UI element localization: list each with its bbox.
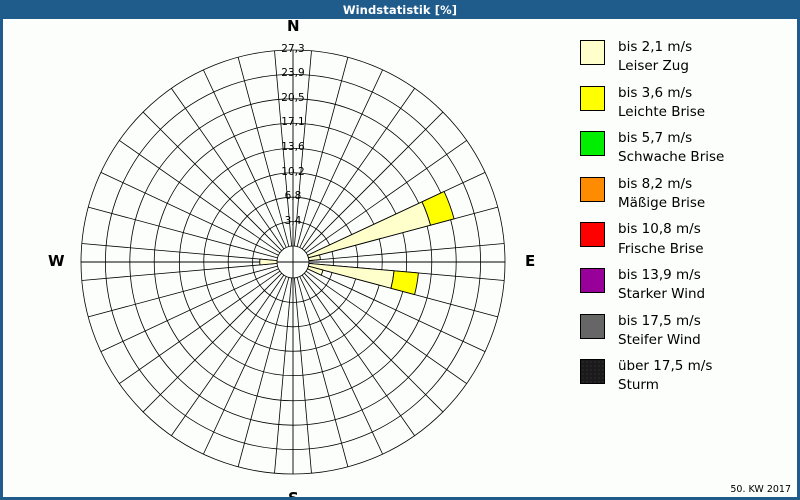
chart-canvas: N E S W 3,46,810,213,617,120,523,927,3 b… xyxy=(3,19,797,497)
legend-speed: bis 17,5 m/s xyxy=(618,313,701,329)
cardinal-label-east: E xyxy=(525,252,535,270)
legend-row: bis 8,2 m/sMäßige Brise xyxy=(580,175,790,214)
legend-label: bis 2,1 m/sLeiser Zug xyxy=(618,38,692,77)
legend-speed: bis 13,9 m/s xyxy=(618,267,701,283)
wind-rose-plot xyxy=(3,19,563,497)
legend-beaufort-name: Schwache Brise xyxy=(618,148,724,167)
grid-spoke xyxy=(143,273,282,412)
grid-spoke xyxy=(300,70,383,248)
cardinal-label-west: W xyxy=(48,252,65,270)
legend-speed: bis 10,8 m/s xyxy=(618,221,701,237)
legend-speed: bis 5,7 m/s xyxy=(618,130,692,146)
legend-row: bis 3,6 m/sLeichte Brise xyxy=(580,84,790,123)
legend-beaufort-name: Frische Brise xyxy=(618,240,704,259)
grid-spoke xyxy=(203,70,286,248)
legend-color-swatch xyxy=(580,177,605,202)
cardinal-label-south: S xyxy=(288,489,299,497)
legend-speed: über 17,5 m/s xyxy=(618,358,712,374)
wind-rose-wedge xyxy=(308,263,394,288)
legend-row: bis 10,8 m/sFrische Brise xyxy=(580,220,790,259)
legend-label: bis 10,8 m/sFrische Brise xyxy=(618,220,704,259)
week-stamp: 50. KW 2017 xyxy=(730,484,791,495)
grid-spoke xyxy=(304,273,443,412)
legend-color-swatch xyxy=(580,131,605,156)
legend-row: bis 17,5 m/sSteifer Wind xyxy=(580,312,790,351)
legend-beaufort-name: Sturm xyxy=(618,376,712,395)
wind-rose-wedge xyxy=(260,259,277,265)
legend-color-swatch xyxy=(580,359,605,384)
radial-tick-label: 23,9 xyxy=(281,67,304,79)
grid-spoke xyxy=(300,277,383,455)
legend-label: über 17,5 m/sSturm xyxy=(618,357,712,396)
cardinal-label-north: N xyxy=(287,19,300,35)
wind-rose-wedge xyxy=(308,202,431,258)
legend-color-swatch xyxy=(580,86,605,111)
legend-row: bis 2,1 m/sLeiser Zug xyxy=(580,38,790,77)
grid-spoke xyxy=(101,172,279,255)
legend-label: bis 5,7 m/sSchwache Brise xyxy=(618,129,724,168)
legend-speed: bis 3,6 m/s xyxy=(618,85,692,101)
legend-color-swatch xyxy=(580,222,605,247)
legend-label: bis 13,9 m/sStarker Wind xyxy=(618,266,705,305)
legend-label: bis 3,6 m/sLeichte Brise xyxy=(618,84,705,123)
wind-speed-legend: bis 2,1 m/sLeiser Zugbis 3,6 m/sLeichte … xyxy=(580,38,790,403)
radial-tick-label: 20,5 xyxy=(281,92,304,104)
legend-label: bis 8,2 m/sMäßige Brise xyxy=(618,175,705,214)
legend-color-swatch xyxy=(580,40,605,65)
legend-beaufort-name: Leiser Zug xyxy=(618,57,692,76)
legend-label: bis 17,5 m/sSteifer Wind xyxy=(618,312,701,351)
grid-spoke xyxy=(203,277,286,455)
legend-speed: bis 2,1 m/s xyxy=(618,39,692,55)
window-title: Windstatistik [%] xyxy=(343,3,457,17)
legend-row: bis 5,7 m/sSchwache Brise xyxy=(580,129,790,168)
windstatistik-window: Windstatistik [%] N E S W 3,46,810,213,6… xyxy=(0,0,800,500)
radial-tick-label: 3,4 xyxy=(285,215,302,227)
legend-beaufort-name: Leichte Brise xyxy=(618,103,705,122)
grid-spoke xyxy=(143,112,282,251)
window-titlebar: Windstatistik [%] xyxy=(0,0,800,19)
legend-color-swatch xyxy=(580,268,605,293)
radial-tick-label: 6,8 xyxy=(285,190,302,202)
radial-tick-label: 13,6 xyxy=(281,141,304,153)
legend-beaufort-name: Mäßige Brise xyxy=(618,194,705,213)
radial-tick-label: 27,3 xyxy=(281,43,304,55)
legend-color-swatch xyxy=(580,314,605,339)
legend-speed: bis 8,2 m/s xyxy=(618,176,692,192)
wind-rose-wedge xyxy=(391,271,418,295)
radial-tick-label: 17,1 xyxy=(281,116,304,128)
radial-tick-label: 10,2 xyxy=(281,166,304,178)
legend-beaufort-name: Steifer Wind xyxy=(618,331,701,350)
grid-spoke xyxy=(101,269,279,352)
legend-row: über 17,5 m/sSturm xyxy=(580,357,790,396)
wind-rose-bars xyxy=(260,192,454,295)
legend-row: bis 13,9 m/sStarker Wind xyxy=(580,266,790,305)
polar-grid xyxy=(81,50,505,474)
legend-beaufort-name: Starker Wind xyxy=(618,285,705,304)
